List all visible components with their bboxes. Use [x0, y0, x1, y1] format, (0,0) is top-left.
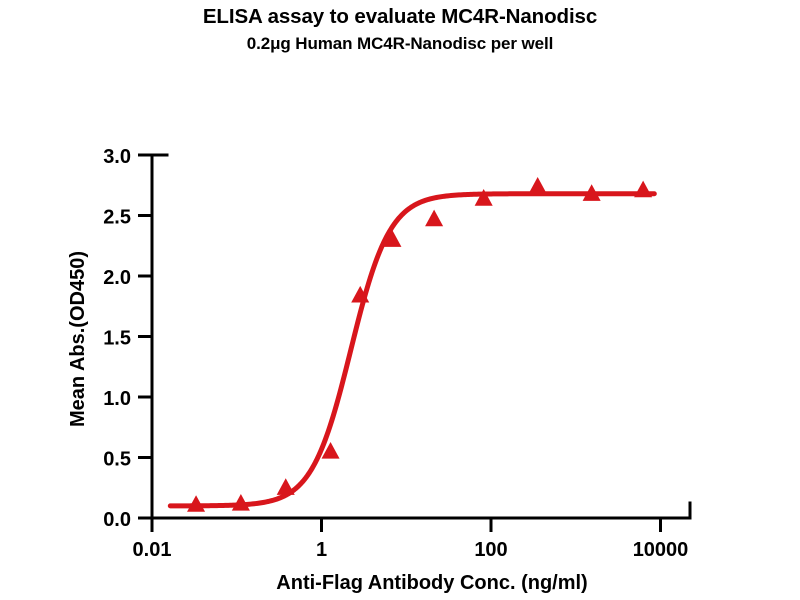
x-tick-label: 1 — [316, 539, 327, 561]
y-tick-label: 1.0 — [103, 388, 131, 410]
fit-curve — [170, 194, 654, 506]
data-point-marker — [529, 177, 547, 194]
data-point-marker — [425, 210, 443, 227]
data-point-marker — [634, 181, 652, 198]
y-axis-title: Mean Abs.(OD450) — [67, 251, 89, 427]
x-tick-marks — [152, 518, 661, 532]
y-tick-label: 0.0 — [103, 509, 131, 531]
x-axis-title: Anti-Flag Antibody Conc. (ng/ml) — [276, 572, 587, 594]
elisa-chart-figure: ELISA assay to evaluate MC4R-Nanodisc 0.… — [0, 0, 800, 600]
axis-spines — [152, 155, 690, 518]
y-tick-labels: 0.0 0.5 1.0 1.5 2.0 2.5 3.0 — [103, 146, 131, 531]
data-point-marker — [277, 478, 295, 495]
y-tick-label: 0.5 — [103, 449, 131, 471]
data-point-markers — [187, 177, 652, 512]
x-tick-label: 0.01 — [133, 539, 172, 561]
y-tick-label: 2.5 — [103, 207, 131, 229]
y-tick-marks — [138, 155, 152, 518]
y-tick-label: 1.5 — [103, 328, 131, 350]
x-tick-labels: 0.01 1 100 10000 — [133, 539, 689, 561]
y-tick-label: 3.0 — [103, 146, 131, 168]
y-tick-label: 2.0 — [103, 267, 131, 289]
x-tick-label: 10000 — [633, 539, 689, 561]
x-tick-label: 100 — [474, 539, 507, 561]
plot-area: 0.0 0.5 1.0 1.5 2.0 2.5 3.0 0.01 1 100 1… — [0, 0, 800, 600]
